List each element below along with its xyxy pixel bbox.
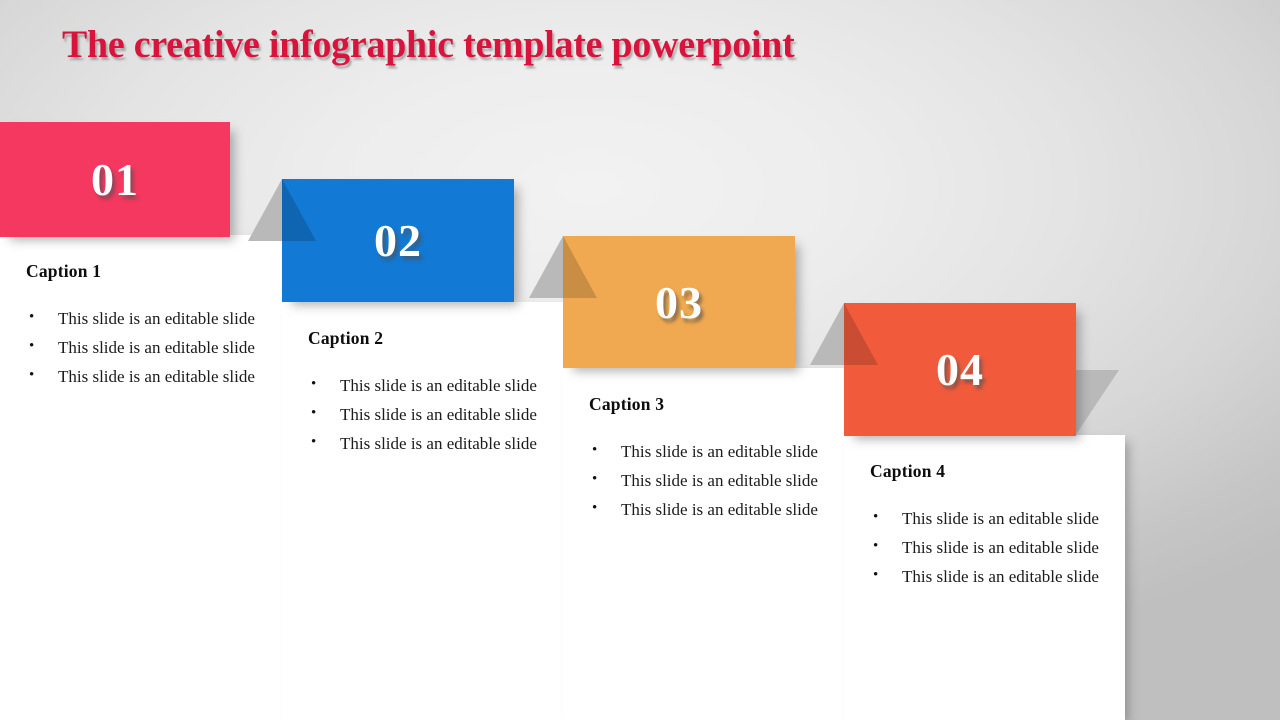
fold-shade-3 [563,236,597,298]
number-banner-1[interactable]: 01 [0,122,230,237]
fold-shade-2 [282,179,316,241]
list-item: This slide is an editable slide [26,335,260,361]
step-number-3: 03 [655,276,703,329]
fold-corner-3 [529,236,563,298]
fold-shade-4 [844,303,878,365]
list-item: This slide is an editable slide [870,506,1103,532]
caption-title-2: Caption 2 [308,328,541,349]
bullet-list-2: This slide is an editable slide This sli… [308,373,541,456]
list-item: This slide is an editable slide [589,468,822,494]
bullet-list-1: This slide is an editable slide This sli… [26,306,260,389]
bullet-list-4: This slide is an editable slide This sli… [870,506,1103,589]
slide-canvas: The creative infographic template powerp… [0,0,1280,720]
fold-corner-2 [248,179,282,241]
number-banner-2[interactable]: 02 [282,179,514,302]
number-banner-3[interactable]: 03 [563,236,795,368]
list-item: This slide is an editable slide [308,373,541,399]
list-item: This slide is an editable slide [26,306,260,332]
list-item: This slide is an editable slide [870,564,1103,590]
list-item: This slide is an editable slide [308,431,541,457]
step-number-2: 02 [374,214,422,267]
list-item: This slide is an editable slide [308,402,541,428]
caption-title-3: Caption 3 [589,394,822,415]
caption-title-4: Caption 4 [870,461,1103,482]
content-panel-1: Caption 1 This slide is an editable slid… [0,235,282,720]
step-number-4: 04 [936,343,984,396]
bullet-list-3: This slide is an editable slide This sli… [589,439,822,522]
number-banner-4[interactable]: 04 [844,303,1076,436]
content-panel-4: Caption 4 This slide is an editable slid… [844,435,1125,720]
content-panel-2: Caption 2 This slide is an editable slid… [282,302,563,720]
page-title: The creative infographic template powerp… [62,22,795,67]
list-item: This slide is an editable slide [26,364,260,390]
list-item: This slide is an editable slide [589,497,822,523]
list-item: This slide is an editable slide [870,535,1103,561]
list-item: This slide is an editable slide [589,439,822,465]
fold-corner-4 [810,303,844,365]
step-number-1: 01 [91,153,139,206]
caption-title-1: Caption 1 [26,261,260,282]
fold-corner-br-4 [1075,370,1119,436]
content-panel-3: Caption 3 This slide is an editable slid… [563,368,844,720]
